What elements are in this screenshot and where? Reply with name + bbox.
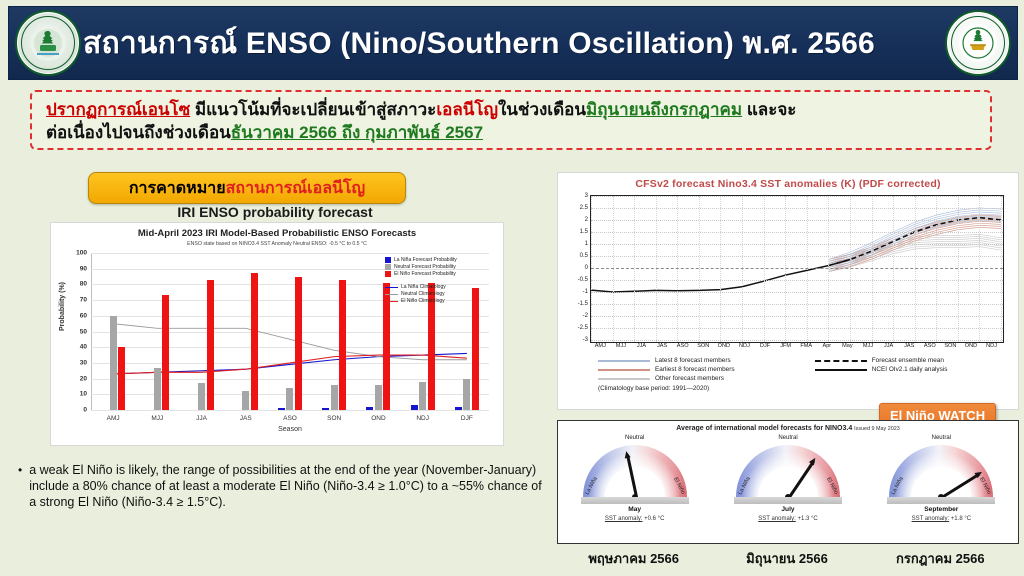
y-tick-label: -2 <box>583 313 588 319</box>
y-tick-label: 0 <box>585 265 588 271</box>
legend-item-neutral-climatology: Neutral Climatology <box>385 291 497 297</box>
gridline <box>591 232 1003 233</box>
x-tick-label: MJJ <box>135 415 179 422</box>
gauge-label-neutral: Neutral <box>583 435 687 441</box>
gridline <box>677 196 678 342</box>
x-tick-label: OND <box>714 343 735 349</box>
iri-legend: La Niña Forecast Probability Neutral For… <box>385 257 497 305</box>
gridline <box>591 244 1003 245</box>
gridline <box>850 196 851 342</box>
bullet-marker-icon: • <box>18 462 22 510</box>
legend-label: NCEI OIv2.1 daily analysis <box>872 366 948 373</box>
iri-card-title: IRI ENSO probability forecast <box>45 204 505 220</box>
bar <box>207 280 214 410</box>
gauge-panel-issued: Issued 9 May 2023 <box>854 426 900 432</box>
legend-item-ncei-analysis: NCEI OIv2.1 daily analysis <box>815 366 1000 373</box>
y-tick-label: 10 <box>80 391 87 398</box>
gauge-label-lanina: La Niña <box>584 476 598 496</box>
bar <box>118 347 125 410</box>
elnino-line-icon <box>385 301 398 302</box>
bar <box>251 273 258 410</box>
neutral-line-icon <box>385 294 398 295</box>
x-tick-label: JAS <box>899 343 920 349</box>
cfsv2-legend: Latest 8 forecast members Earliest 8 for… <box>598 357 1008 392</box>
cfsv2-legend-left: Latest 8 forecast members Earliest 8 for… <box>598 357 813 392</box>
legend-label: El Niño Climatology <box>401 298 445 304</box>
y-tick-label: 80 <box>80 281 87 288</box>
y-tick-label: 2.5 <box>580 205 588 211</box>
bar <box>162 295 169 410</box>
legend-label: La Niña Climatology <box>401 284 446 290</box>
bar <box>455 407 462 410</box>
pill-label-red: สถานการณ์เอลนีโญ <box>226 176 366 201</box>
y-tick-label: 40 <box>80 344 87 351</box>
gridline <box>656 196 657 342</box>
bar <box>322 408 329 410</box>
gauge-dial: NeutralLa NiñaEl Niño <box>583 445 687 497</box>
y-tick-label: -3 <box>583 337 588 343</box>
bar-group <box>268 253 312 410</box>
gridline <box>634 196 635 342</box>
gauge-inner <box>758 467 818 497</box>
gridline <box>591 208 1003 209</box>
iri-y-axis-label: Probability (%) <box>59 282 66 331</box>
x-tick-label: JJA <box>878 343 899 349</box>
earliest-members-line-icon <box>598 369 650 371</box>
bar <box>375 385 382 410</box>
gridline <box>828 196 829 342</box>
y-tick-label: 60 <box>80 312 87 319</box>
other-members-line-icon <box>598 378 650 380</box>
x-tick-label: JJA <box>179 415 223 422</box>
model-forecast-gauge-panel: Average of international model forecasts… <box>557 420 1019 544</box>
bar-group <box>135 253 179 410</box>
callout-term-elnino: เอลนีโญ <box>436 100 498 119</box>
cfsv2-chart-title: CFSv2 forecast Nino3.4 SST anomalies (K)… <box>558 173 1018 190</box>
gridline <box>699 196 700 342</box>
bar-group <box>91 253 135 410</box>
gridline <box>591 316 1003 317</box>
y-tick-label: -0.5 <box>578 277 588 283</box>
y-tick-label: 2 <box>585 217 588 223</box>
legend-item-elnino-forecast: El Niño Forecast Probability <box>385 271 497 277</box>
legend-item-lanina-climatology: La Niña Climatology <box>385 284 497 290</box>
legend-item-neutral-forecast: Neutral Forecast Probability <box>385 264 497 270</box>
x-tick-label: May <box>837 343 858 349</box>
lanina-swatch-icon <box>385 257 391 263</box>
announcement-line-1: ปรากฏการณ์เอนโซ มีแนวโน้มที่จะเปลี่ยนเข้… <box>46 98 978 121</box>
bar-group <box>224 253 268 410</box>
y-tick-label: 1 <box>585 241 588 247</box>
bar <box>411 405 418 410</box>
iri-chart-title: Mid-April 2023 IRI Model-Based Probabili… <box>51 228 503 239</box>
x-tick-label: ASO <box>268 415 312 422</box>
gridline <box>613 196 614 342</box>
legend-item-elnino-climatology: El Niño Climatology <box>385 298 497 304</box>
gauge-sst-anomaly: SST anomaly: +0.6 °C <box>571 516 699 522</box>
page-title: สถานการณ์ ENSO (Nino/Southern Oscillatio… <box>83 20 875 67</box>
lanina-line-icon <box>385 287 398 288</box>
royal-emblem-logo-icon <box>945 10 1011 76</box>
x-tick-label: JAS <box>652 343 673 349</box>
x-tick-label: Apr <box>817 343 838 349</box>
legend-label: Neutral Forecast Probability <box>394 264 456 270</box>
announcement-callout: ปรากฏการณ์เอนโซ มีแนวโน้มที่จะเปลี่ยนเข้… <box>30 90 992 150</box>
x-tick-label: AMJ <box>590 343 611 349</box>
legend-item-lanina-forecast: La Niña Forecast Probability <box>385 257 497 263</box>
gridline <box>1001 196 1002 342</box>
bar <box>419 382 426 410</box>
bar <box>110 316 117 410</box>
forecast-gauge: NeutralLa NiñaEl NiñoJulySST anomaly: +1… <box>724 435 852 522</box>
thai-month-label: กรกฎาคม 2566 <box>864 548 1017 569</box>
zero-line <box>591 268 1003 269</box>
y-tick-label: 30 <box>80 359 87 366</box>
x-tick-label: ASO <box>672 343 693 349</box>
cfsv2-legend-right: Forecast ensemble mean NCEI OIv2.1 daily… <box>815 357 1000 375</box>
x-tick-label: JAS <box>224 415 268 422</box>
legend-label: Latest 8 forecast members <box>655 357 731 364</box>
y-tick-label: 90 <box>80 265 87 272</box>
forecast-gauge: NeutralLa NiñaEl NiñoMaySST anomaly: +0.… <box>571 435 699 522</box>
gauge-month-label: September <box>877 506 1005 513</box>
iri-chart-heading: Mid-April 2023 IRI Model-Based Probabili… <box>51 223 503 247</box>
gridline <box>591 196 592 342</box>
forecast-section-label: การคาดหมายสถานการณ์เอลนีโญ <box>88 172 406 204</box>
gauge-panel-heading: Average of international model forecasts… <box>558 421 1018 432</box>
ncei-analysis-line-icon <box>815 369 867 371</box>
y-tick-label: 1.5 <box>580 229 588 235</box>
cfsv2-base-period: (Climatology base period: 1991—2020) <box>598 385 813 392</box>
gridline <box>742 196 743 342</box>
gridline <box>591 256 1003 257</box>
legend-label: Earliest 8 forecast members <box>655 366 735 373</box>
gauge-month-label: July <box>724 506 852 513</box>
callout-text-1d: ในช่วงเดือน <box>498 100 586 119</box>
gauge-panel-title: Average of international model forecasts… <box>676 425 852 432</box>
gauge-label-lanina: La Niña <box>737 476 751 496</box>
gridline <box>872 196 873 342</box>
bar <box>331 385 338 410</box>
y-tick-label: -1.5 <box>578 301 588 307</box>
gauge-sst-anomaly: SST anomaly: +1.3 °C <box>724 516 852 522</box>
gridline <box>958 196 959 342</box>
gauge-sst-anomaly: SST anomaly: +1.8 °C <box>877 516 1005 522</box>
gauge-label-neutral: Neutral <box>736 435 840 441</box>
gridline <box>591 196 1003 197</box>
legend-label: La Niña Forecast Probability <box>394 257 457 263</box>
gauge-month-label: May <box>571 506 699 513</box>
bar <box>242 391 249 410</box>
gauge-label-neutral: Neutral <box>889 435 993 441</box>
x-tick-label: JJA <box>631 343 652 349</box>
gauge-label-elnino: El Niño <box>672 477 686 496</box>
gauge-row: NeutralLa NiñaEl NiñoMaySST anomaly: +0.… <box>558 435 1018 522</box>
gauge-base <box>581 497 689 504</box>
gridline <box>893 196 894 342</box>
y-tick-label: 50 <box>80 328 87 335</box>
iri-x-axis-label: Season <box>91 426 489 433</box>
callout-text-1f: และจะ <box>742 100 796 119</box>
y-tick-label: 20 <box>80 375 87 382</box>
callout-text-2a: ต่อเนื่องไปจนถึงช่วงเดือน <box>46 123 231 142</box>
x-tick-label: JFM <box>775 343 796 349</box>
x-tick-label: ASO <box>920 343 941 349</box>
summary-bullet: • a weak El Niño is likely, the range of… <box>18 462 548 510</box>
bar <box>472 288 479 410</box>
x-tick-label: NDJ <box>401 415 445 422</box>
gauge-dial: NeutralLa NiñaEl Niño <box>736 445 840 497</box>
x-tick-label: DJF <box>755 343 776 349</box>
bar-group <box>179 253 223 410</box>
bar-group <box>312 253 356 410</box>
announcement-line-2: ต่อเนื่องไปจนถึงช่วงเดือนธันวาคม 2566 ถึ… <box>46 121 978 144</box>
cfsv2-forecast-chart: CFSv2 forecast Nino3.4 SST anomalies (K)… <box>557 172 1019 410</box>
y-tick-label: 70 <box>80 297 87 304</box>
neutral-swatch-icon <box>385 264 391 270</box>
callout-term-enso: ปรากฏการณ์เอนโซ <box>46 100 190 119</box>
bullet-text: a weak El Niño is likely, the range of p… <box>29 462 548 510</box>
legend-item-earliest-members: Earliest 8 forecast members <box>598 366 813 373</box>
bar <box>198 383 205 410</box>
gridline <box>785 196 786 342</box>
legend-label: Neutral Climatology <box>401 291 445 297</box>
slide-header: สถานการณ์ ENSO (Nino/Southern Oscillatio… <box>8 6 1018 80</box>
legend-label: El Niño Forecast Probability <box>394 271 456 277</box>
x-tick-label: MJJ <box>611 343 632 349</box>
x-tick-label: MJJ <box>858 343 879 349</box>
legend-item-ensemble-mean: Forecast ensemble mean <box>815 357 1000 364</box>
gridline <box>807 196 808 342</box>
legend-label: Forecast ensemble mean <box>872 357 944 364</box>
y-tick-label: 3 <box>585 193 588 199</box>
gridline <box>764 196 765 342</box>
bar <box>278 408 285 410</box>
bar <box>463 379 470 410</box>
thai-month-label: พฤษภาคม 2566 <box>557 548 710 569</box>
thai-month-labels: พฤษภาคม 2566มิถุนายน 2566กรกฎาคม 2566 <box>557 548 1017 569</box>
gridline <box>591 220 1003 221</box>
iri-chart-subtitle: ENSO state based on NINO3.4 SST Anomaly … <box>51 241 503 247</box>
gridline <box>591 304 1003 305</box>
iri-probability-chart: Mid-April 2023 IRI Model-Based Probabili… <box>50 222 504 446</box>
iri-x-tick-labels: AMJMJJJJAJASASOSONONDNDJDJF <box>91 415 489 422</box>
cfsv2-x-tick-labels: AMJMJJJJAJASASOSONONDNDJDJFJFMFMAAprMayM… <box>590 343 1002 349</box>
y-tick-label: 0.5 <box>580 253 588 259</box>
x-tick-label: SON <box>940 343 961 349</box>
gauge-base <box>734 497 842 504</box>
legend-item-other-members: Other forecast members <box>598 375 813 382</box>
gridline <box>720 196 721 342</box>
thai-month-label: มิถุนายน 2566 <box>710 548 863 569</box>
x-tick-label: NDJ <box>734 343 755 349</box>
gridline <box>591 292 1003 293</box>
x-tick-label: SON <box>312 415 356 422</box>
latest-members-line-icon <box>598 360 650 362</box>
x-tick-label: OND <box>961 343 982 349</box>
y-tick-label: 0 <box>83 407 87 414</box>
bar <box>366 407 373 410</box>
y-tick-label: -2.5 <box>578 325 588 331</box>
tmd-logo-icon <box>15 10 81 76</box>
gridline <box>591 328 1003 329</box>
x-tick-label: NDJ <box>981 343 1002 349</box>
gridline <box>591 340 1003 341</box>
x-tick-label: SON <box>693 343 714 349</box>
gridline <box>979 196 980 342</box>
ensemble-mean-line-icon <box>815 360 867 362</box>
x-tick-label: DJF <box>445 415 489 422</box>
bar <box>295 277 302 410</box>
bar <box>154 368 161 410</box>
callout-term-period: ธันวาคม 2566 ถึง กุมภาพันธ์ 2567 <box>231 123 483 142</box>
callout-term-months: มิถุนายนถึงกรกฎาคม <box>586 100 742 119</box>
gauge-label-elnino: El Niño <box>825 477 839 496</box>
gridline <box>591 280 1003 281</box>
gauge-label-lanina: La Niña <box>891 476 905 496</box>
cfsv2-plot-area: -3-2.5-2-1.5-1-0.500.511.522.53 <box>590 195 1004 343</box>
gauge-label-elnino: El Niño <box>978 477 992 496</box>
bar <box>339 280 346 410</box>
pill-label-black: การคาดหมาย <box>129 176 226 201</box>
callout-text-1b: มีแนวโน้มที่จะเปลี่ยนเข้าสู่สภาวะ <box>190 100 436 119</box>
y-tick-label: -1 <box>583 289 588 295</box>
gridline <box>936 196 937 342</box>
y-tick-label: 100 <box>76 250 87 257</box>
bar <box>286 388 293 410</box>
gridline <box>915 196 916 342</box>
gauge-dial: NeutralLa NiñaEl Niño <box>889 445 993 497</box>
x-tick-label: FMA <box>796 343 817 349</box>
legend-item-latest-members: Latest 8 forecast members <box>598 357 813 364</box>
gauge-base <box>887 497 995 504</box>
legend-label: Other forecast members <box>655 375 724 382</box>
elnino-swatch-icon <box>385 271 391 277</box>
forecast-gauge: NeutralLa NiñaEl NiñoSeptemberSST anomal… <box>877 435 1005 522</box>
x-tick-label: AMJ <box>91 415 135 422</box>
x-tick-label: OND <box>356 415 400 422</box>
